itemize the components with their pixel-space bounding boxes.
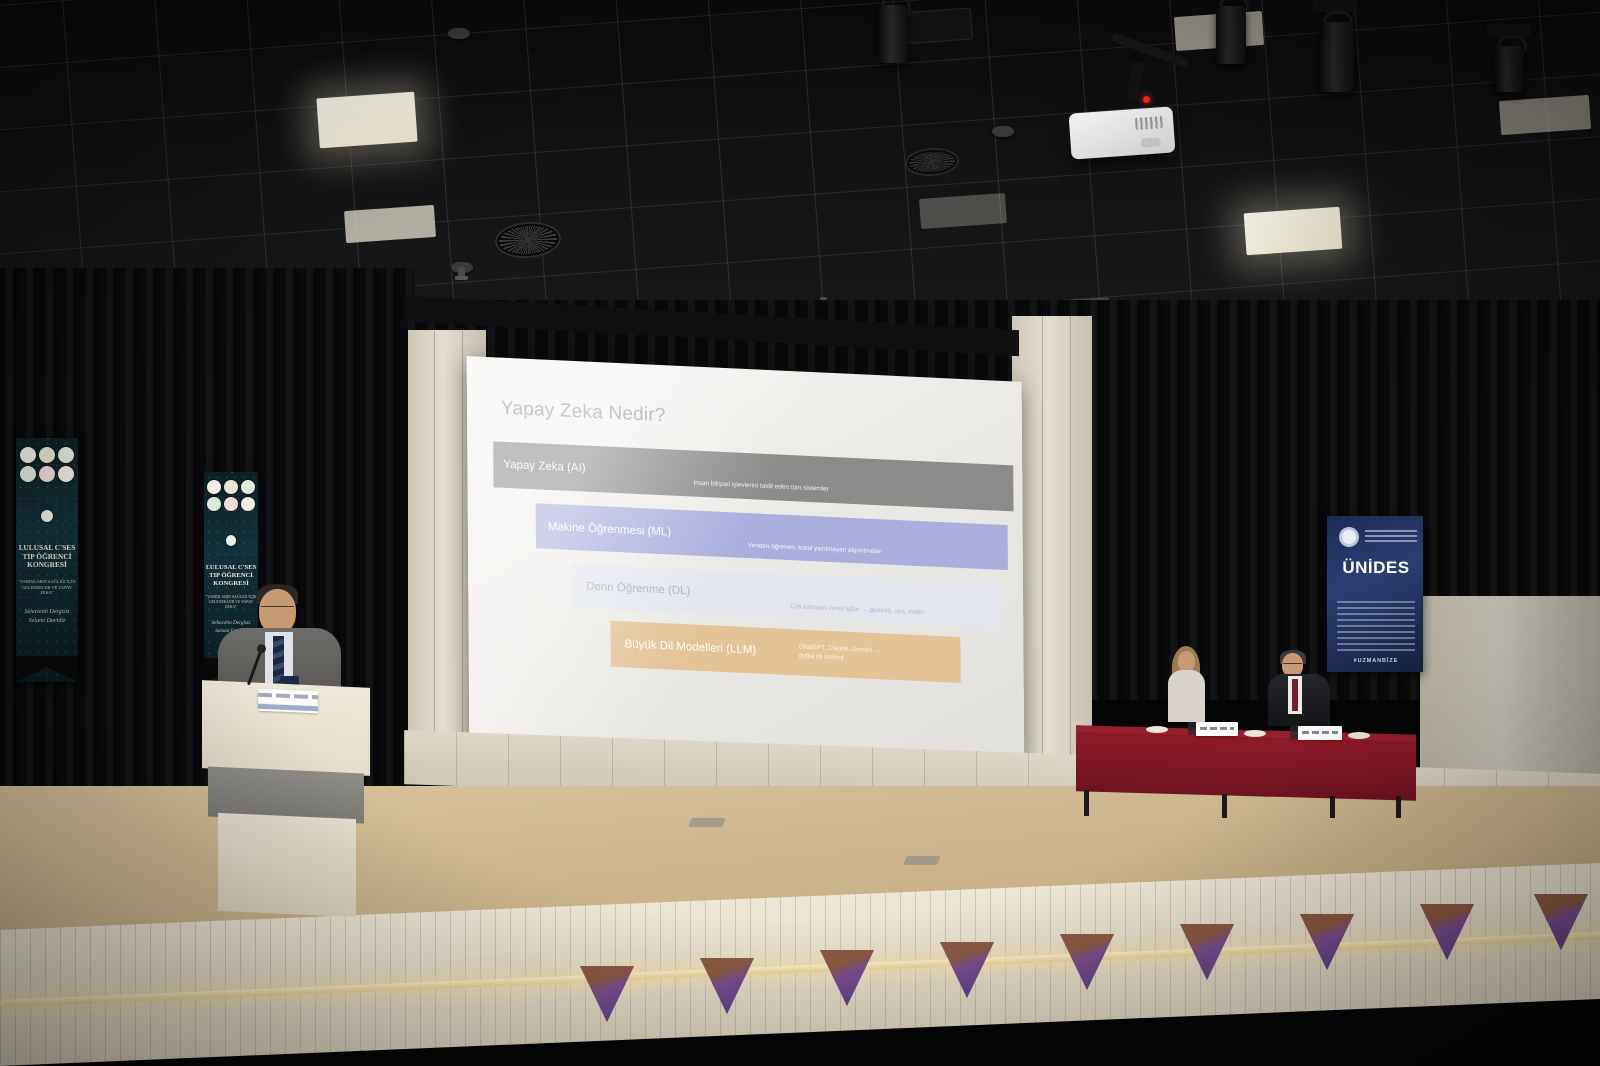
banner-logo-icon bbox=[224, 480, 238, 494]
unides-banner: ÜNİDES #UZMANBİZE bbox=[1327, 516, 1423, 672]
ceiling-light-panel bbox=[1499, 95, 1591, 135]
banner-logo-icon bbox=[207, 497, 221, 511]
projection-screen-assembly: Yapay Zeka Nedir? Yapay Zeka (AI) İnsan … bbox=[404, 313, 1019, 763]
unides-logo-text bbox=[1365, 530, 1417, 542]
smoke-detector-icon bbox=[448, 28, 470, 39]
banner-logo-icon bbox=[39, 466, 55, 482]
smoke-detector-icon bbox=[992, 126, 1014, 137]
ceiling-light-panel bbox=[1244, 207, 1343, 256]
screen-glare bbox=[467, 356, 1025, 777]
ceiling-light-panel bbox=[344, 205, 436, 243]
bunting-pennant bbox=[1300, 914, 1354, 970]
bunting-pennant bbox=[1180, 924, 1234, 980]
banner-logo-icon bbox=[58, 447, 74, 463]
floor-socket-cover bbox=[688, 818, 726, 827]
projector-status-led bbox=[1143, 96, 1150, 103]
banner-logo-icon bbox=[241, 480, 255, 494]
congress-banner-subtitle: "YARINLARIN SAĞLIĞI İÇİN GELENEKLER VE Y… bbox=[16, 579, 78, 596]
unides-banner-name: ÜNİDES bbox=[1333, 558, 1419, 578]
podium-lower-panel bbox=[218, 813, 356, 917]
saucer bbox=[1244, 730, 1266, 737]
panelist-right bbox=[1268, 650, 1338, 730]
panelist-right-glasses-icon bbox=[1283, 663, 1302, 668]
saucer bbox=[1348, 732, 1370, 739]
unides-banner-tagline: #UZMANBİZE bbox=[1335, 658, 1418, 664]
panel-name-card bbox=[1298, 726, 1342, 740]
bunting-pennant bbox=[1420, 904, 1474, 960]
banner-logo-icon bbox=[207, 480, 221, 494]
banner-logo-icon bbox=[39, 447, 55, 463]
saucer bbox=[1146, 726, 1168, 733]
panel-name-card bbox=[1196, 722, 1238, 736]
projector-lens-icon bbox=[1140, 137, 1161, 147]
congress-banner-left: I.ULUSAL C'SES TIP ÖĞRENCİ KONGRESİ "YAR… bbox=[16, 438, 78, 682]
panelist-left bbox=[1160, 646, 1220, 726]
unides-logo-icon bbox=[1339, 527, 1359, 547]
congress-banner-signature: Sehavetin Dergisiz Selami Davidiz bbox=[16, 608, 78, 626]
panel-table-leg bbox=[1330, 796, 1335, 818]
panelist-left-head bbox=[1178, 651, 1195, 672]
bunting-pennant bbox=[580, 966, 634, 1022]
bunting-pennant bbox=[1060, 934, 1114, 990]
sprinkler-head-icon bbox=[458, 267, 465, 279]
podium-name-card bbox=[258, 689, 318, 714]
bunting-pennant bbox=[700, 958, 754, 1014]
bunting-pennant bbox=[820, 950, 874, 1006]
unides-banner-body-text bbox=[1337, 597, 1416, 651]
panelist-left-top bbox=[1168, 670, 1205, 722]
banner-logo-icon bbox=[20, 447, 36, 463]
ceiling-projector bbox=[1069, 106, 1176, 159]
podium bbox=[202, 684, 370, 916]
bunting-pennant bbox=[940, 942, 994, 998]
banner-logo-icon bbox=[20, 466, 36, 482]
banner-logo-icon bbox=[241, 497, 255, 511]
conference-photo: Yapay Zeka Nedir? Yapay Zeka (AI) İnsan … bbox=[0, 0, 1600, 1066]
banner-logo-icon bbox=[58, 466, 74, 482]
panel-table-leg bbox=[1396, 796, 1401, 818]
ceiling-light-panel bbox=[919, 193, 1007, 229]
congress-banner-title: I.ULUSAL C'SES TIP ÖĞRENCİ KONGRESİ bbox=[16, 544, 78, 570]
panel-table-leg bbox=[1084, 790, 1089, 816]
ceiling-speaker bbox=[899, 8, 973, 45]
floor-socket-cover bbox=[903, 856, 941, 865]
projector-vent bbox=[1135, 116, 1166, 130]
panelist-right-tie bbox=[1292, 679, 1298, 711]
water-glass bbox=[1188, 722, 1196, 735]
panel-table-leg bbox=[1222, 794, 1227, 818]
speaker-glasses-icon bbox=[261, 606, 294, 611]
bunting-pennant bbox=[1534, 894, 1588, 950]
ceiling-light-panel bbox=[316, 92, 417, 149]
projection-screen: Yapay Zeka Nedir? Yapay Zeka (AI) İnsan … bbox=[467, 356, 1025, 777]
wall-pillar-right bbox=[1012, 316, 1092, 756]
banner-logo-icon bbox=[226, 535, 237, 546]
banner-logo-icon bbox=[224, 497, 238, 511]
water-glass bbox=[1290, 726, 1298, 739]
